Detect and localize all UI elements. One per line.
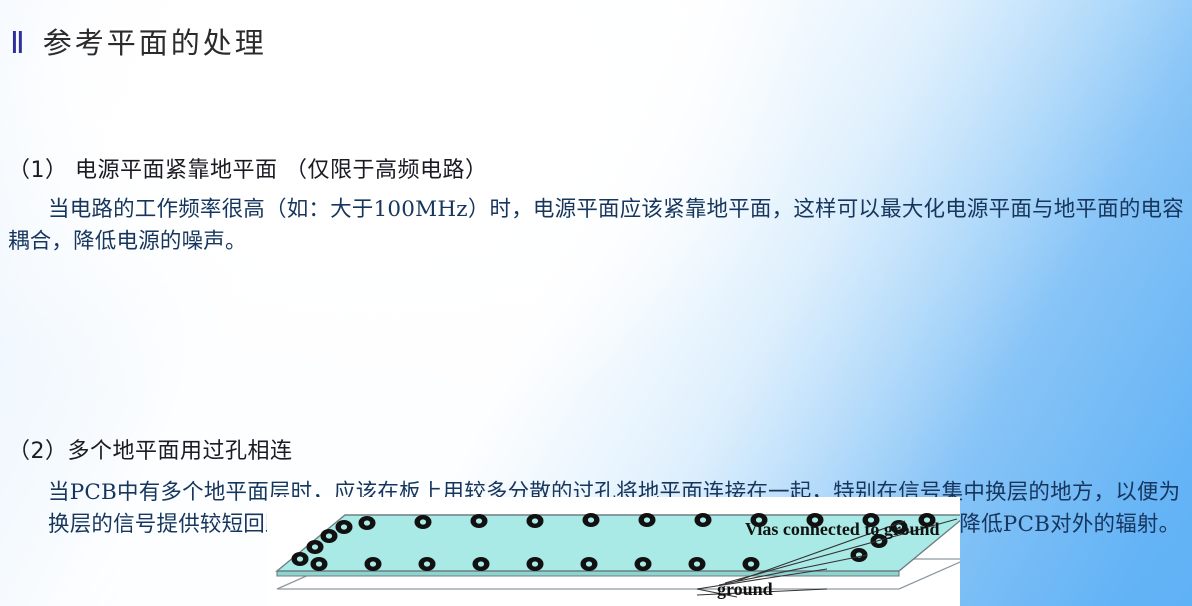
section-1-body: 当电路的工作频率很高（如：大于100MHz）时，电源平面应该紧靠地平面，这样可以…: [8, 194, 1188, 258]
diagram-svg: Vias connected to ground ground: [267, 497, 960, 606]
title-numeral: Ⅱ: [10, 26, 25, 61]
pcb-ground-plane-vias-diagram: Vias connected to ground ground: [267, 497, 960, 606]
section-2-heading: （2）多个地平面用过孔相连: [8, 433, 1192, 465]
label-ground: ground: [717, 579, 773, 599]
label-vias-connected-to-ground: Vias connected to ground: [745, 519, 940, 539]
section-1-heading: （1） 电源平面紧靠地平面 （仅限于高频电路）: [8, 152, 1192, 184]
page-title: Ⅱ 参考平面的处理: [10, 20, 1192, 62]
title-text: 参考平面的处理: [43, 20, 267, 62]
section-1: （1） 电源平面紧靠地平面 （仅限于高频电路） 当电路的工作频率很高（如：大于1…: [8, 152, 1192, 258]
slide-canvas: Ⅱ 参考平面的处理 （1） 电源平面紧靠地平面 （仅限于高频电路） 当电路的工作…: [0, 0, 1192, 606]
section-1-body-text: 当电路的工作频率很高（如：大于100MHz）时，电源平面应该紧靠地平面，这样可以…: [8, 197, 1184, 254]
via-row-bottom: [311, 557, 760, 571]
